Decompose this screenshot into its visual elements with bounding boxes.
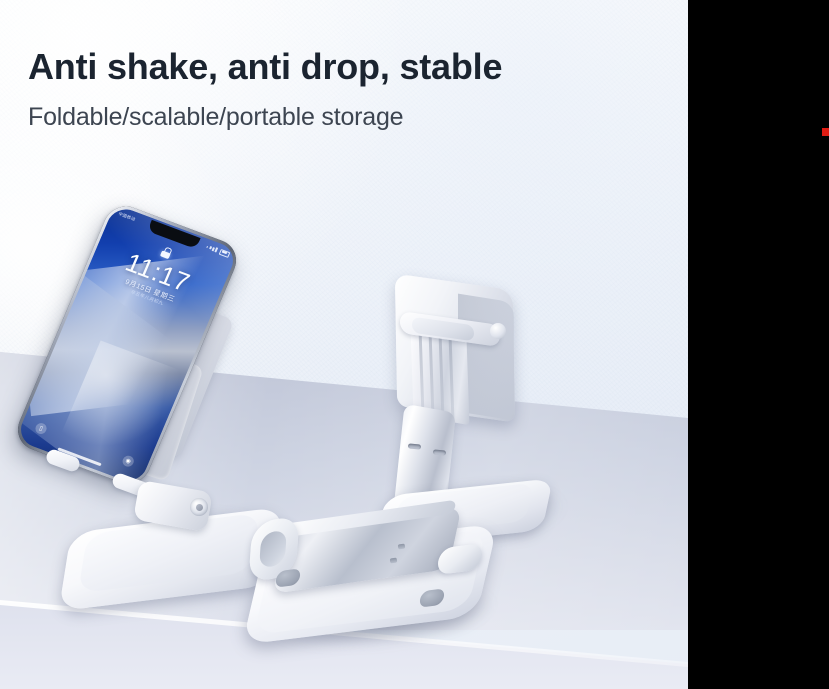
red-marker-dot bbox=[822, 128, 829, 136]
subheadline-text: Foldable/scalable/portable storage bbox=[28, 103, 403, 132]
wifi-icon bbox=[215, 247, 218, 252]
signal-bars-icon bbox=[206, 245, 208, 247]
column-rib bbox=[418, 328, 424, 417]
phone-stand-hinge-knob bbox=[190, 498, 208, 516]
folded-stand bbox=[252, 498, 510, 658]
headline-text: Anti shake, anti drop, stable bbox=[28, 46, 502, 88]
column-rib bbox=[448, 333, 454, 422]
battery-icon bbox=[219, 248, 231, 257]
product-scene: Anti shake, anti drop, stable Foldable/s… bbox=[0, 0, 688, 689]
carrier-label: 中国移动 bbox=[118, 211, 137, 223]
banner-canvas: Anti shake, anti drop, stable Foldable/s… bbox=[0, 0, 829, 689]
column-rib bbox=[428, 330, 434, 419]
letterbox-right bbox=[688, 0, 829, 689]
column-rib bbox=[438, 332, 444, 421]
upright-stand-hinge-knob bbox=[490, 323, 506, 339]
